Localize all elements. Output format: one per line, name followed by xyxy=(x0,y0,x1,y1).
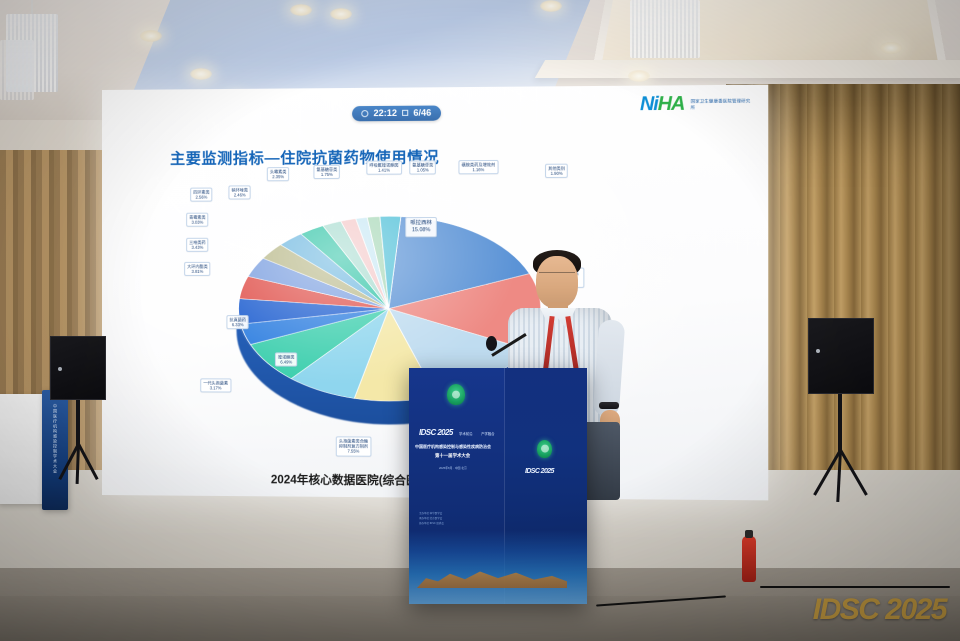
pie-label-penicillin: 青霉素类 3.03% xyxy=(186,213,209,228)
pie-label-triazole: 三唑类药 3.43% xyxy=(186,238,209,253)
tripod-leg xyxy=(839,449,868,496)
pages-icon xyxy=(402,110,408,116)
slide-time: 22:12 xyxy=(373,108,397,118)
pie-label-value: 3.03% xyxy=(189,220,205,225)
speaker-pole-left xyxy=(76,400,80,448)
pie-label-aminoglycoside-b: 氨基糖苷类 1.05% xyxy=(409,160,436,175)
conference-emblem-icon xyxy=(447,384,465,405)
conference-emblem-icon-side xyxy=(537,440,552,458)
pie-label-tetracycline: 四环素类 2.56% xyxy=(190,188,213,203)
idsc-watermark: IDSC 2025 xyxy=(813,593,946,627)
podium-graphic-scene xyxy=(409,530,587,604)
pie-label-piperacillin: 哌拉西林 15.08% xyxy=(405,217,437,237)
downlight xyxy=(140,30,162,42)
pie-label-other: 其他类别 1.90% xyxy=(545,164,568,179)
pie-label-name: 哌拉西林 xyxy=(410,220,432,226)
downlight xyxy=(330,8,352,20)
pie-label-value: 6.49% xyxy=(278,360,295,365)
pie-label-aminoglycoside-a: 氨基糖苷类 1.75% xyxy=(313,165,340,180)
pie-label-macrolide: 大环内酯类 3.81% xyxy=(184,262,211,277)
slide-page: 6/46 xyxy=(413,108,431,118)
niha-cn-text: 国家卫生健康委医院管理研究所 xyxy=(691,98,752,111)
podium-sub-left: 学术前沿 xyxy=(459,431,473,436)
speaker-pole-right xyxy=(838,394,842,454)
floor-cable xyxy=(760,586,950,588)
niha-logo: NiHA 国家卫生健康委医院管理研究所 xyxy=(640,93,751,116)
downlight xyxy=(540,0,562,12)
ceiling-trim xyxy=(535,60,960,78)
wristwatch xyxy=(599,402,619,409)
pie-label-ceph-inhibitor: 头孢菌素类合酶 抑制剂复方制剂 7.55% xyxy=(336,436,371,456)
downlight xyxy=(880,42,902,54)
pie-label-value: 2.35% xyxy=(270,174,287,179)
podium-cn-line2: 第十一届学术大会 xyxy=(435,453,470,459)
speaker-tripod-left xyxy=(52,444,104,484)
chandelier-center xyxy=(0,40,34,100)
pie-label-value: 2.56% xyxy=(193,195,209,200)
downlight xyxy=(190,68,212,80)
pie-label-value: 1.41% xyxy=(369,168,398,173)
tripod-leg xyxy=(76,444,80,484)
podium-info-line: 承办单位:北京医学会 xyxy=(419,517,444,522)
downlight xyxy=(290,4,312,16)
podium-info-line: 协办单位:IDSC 组委会 xyxy=(419,522,444,527)
pie-label-value: 1.05% xyxy=(412,168,433,173)
conference-photo-scene: NiHA 国家卫生健康委医院管理研究所 22:12 6/46 主要监测指标—住院… xyxy=(0,0,960,641)
pie-label-value: 6.33% xyxy=(229,322,246,327)
pie-label-resp-fluoroquinolone: 呼吸氟喹诺酮类 1.41% xyxy=(366,160,401,175)
podium-sub-right: 产学融合 xyxy=(481,431,495,436)
pie-label-value: 15.08% xyxy=(410,227,432,234)
pie-label-value: 2.46% xyxy=(231,193,248,198)
pie-label-antifungal: 抗真菌药 6.33% xyxy=(226,315,249,330)
head xyxy=(536,256,578,308)
fire-extinguisher xyxy=(742,536,756,582)
podium-logo: IDSC 2025 xyxy=(419,428,453,437)
pie-label-sulfonamide: 磺胺类药及增效剂 1.16% xyxy=(458,160,498,175)
speaker-box-left xyxy=(50,336,106,400)
chandelier-right xyxy=(630,0,700,58)
podium-cn-line1: 中国医疗机构感染控制与感染性疾病防治会 xyxy=(415,444,491,450)
clock-icon xyxy=(361,110,368,117)
podium: IDSC 2025 学术前沿 产学融合 中国医疗机构感染控制与感染性疾病防治会 … xyxy=(409,368,587,604)
pie-label-cephamycin: 头霉素类 2.35% xyxy=(267,167,290,182)
microphone-icon xyxy=(486,336,497,351)
podium-side-logo: IDSC 2025 xyxy=(525,468,554,475)
pie-label-ceph1: 一代头孢菌素 3.17% xyxy=(200,378,231,393)
niha-ni: Ni xyxy=(640,94,658,116)
speaker-box-right xyxy=(808,318,874,394)
pie-label-quinolone: 喹诺酮类 6.49% xyxy=(275,352,298,367)
niha-ha: HA xyxy=(658,93,685,115)
speaker-tripod-right xyxy=(814,450,866,490)
tripod-leg xyxy=(77,443,98,480)
pie-label-value: 1.75% xyxy=(316,172,337,177)
downlight xyxy=(628,70,650,82)
pie-label-value: 1.90% xyxy=(548,171,565,176)
pie-label-value: 1.16% xyxy=(462,167,496,172)
glasses-icon xyxy=(539,272,575,280)
slide-status-badge: 22:12 6/46 xyxy=(352,106,440,122)
podium-info: 主办单位:中华医学会 承办单位:北京医学会 协办单位:IDSC 组委会 xyxy=(419,512,444,526)
niha-wordmark: NiHA xyxy=(640,93,684,116)
pie-label-value: 3.17% xyxy=(203,386,228,391)
pie-label-value: 3.43% xyxy=(189,245,205,250)
pie-label-value: 7.55% xyxy=(339,449,368,454)
podium-date: 2025年8月 · 中国 北京 xyxy=(439,466,467,470)
pie-label-value: 3.81% xyxy=(187,269,208,274)
pie-label-nitroimidazole: 硝环唑类 2.46% xyxy=(228,185,251,200)
